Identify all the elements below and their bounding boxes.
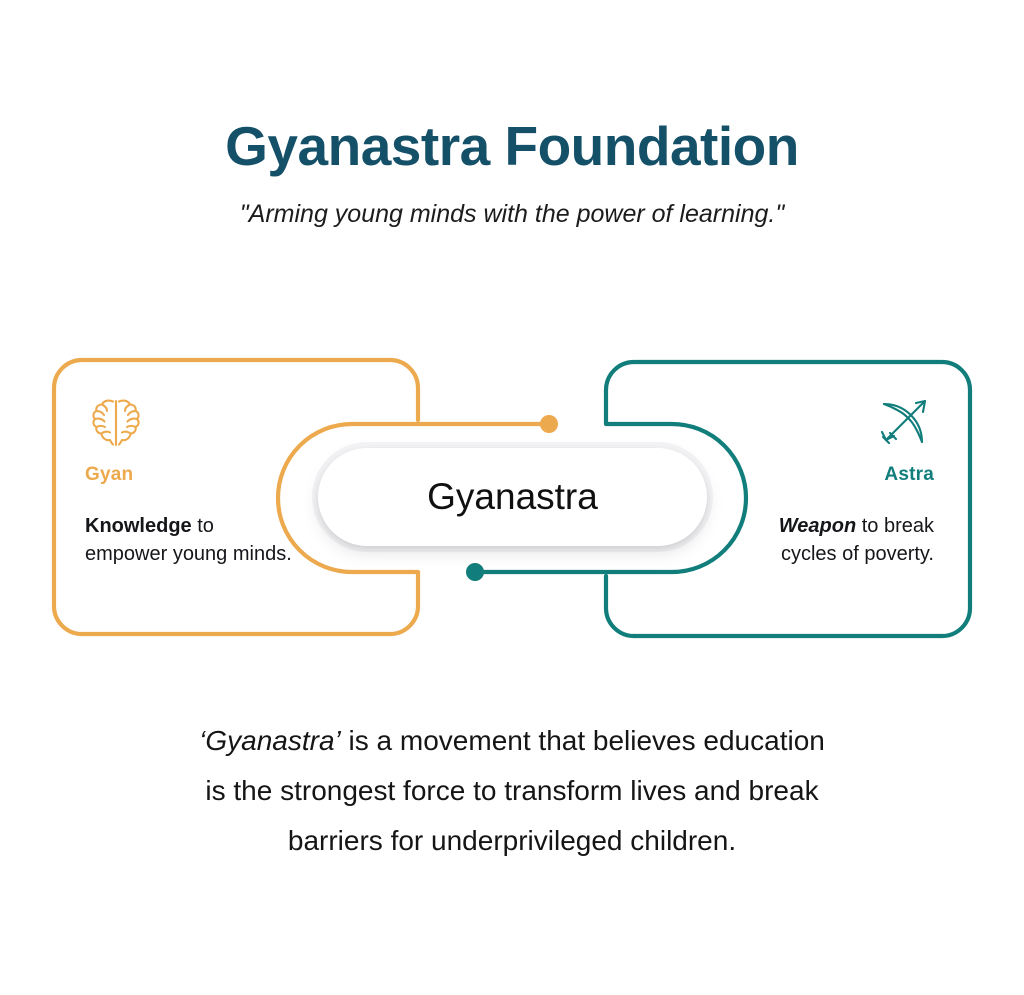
card-gyan-rest: to	[192, 515, 214, 537]
card-astra-line2: cycles of poverty.	[781, 543, 934, 565]
center-pill: Gyanastra	[318, 448, 707, 546]
astra-endpoint-dot	[466, 563, 484, 581]
card-astra-rest: to break	[856, 515, 934, 537]
gyan-card-corner-stub	[390, 360, 418, 420]
card-gyan-description: Knowledge to empower young minds.	[85, 512, 365, 569]
footer-line1: is a movement that believes education	[341, 725, 825, 756]
card-gyan-lead: Knowledge	[85, 515, 192, 537]
page-title: Gyanastra Foundation	[0, 118, 1024, 176]
card-gyan-line2: empower young minds.	[85, 543, 292, 565]
tagline: "Arming young minds with the power of le…	[0, 200, 1024, 229]
header: Gyanastra Foundation "Arming young minds…	[0, 118, 1024, 229]
footer-line3: barriers for underprivileged children.	[288, 825, 736, 856]
brain-icon	[85, 392, 365, 454]
footer-note: ‘Gyanastra’ is a movement that believes …	[0, 716, 1024, 865]
center-pill-label: Gyanastra	[427, 476, 598, 518]
concept-diagram: Gyan Knowledge to empower young minds.	[0, 348, 1024, 648]
footer-line2: is the strongest force to transform live…	[205, 775, 818, 806]
gyan-endpoint-dot	[540, 415, 558, 433]
infographic-canvas: Gyanastra Foundation "Arming young minds…	[0, 0, 1024, 995]
card-astra-lead: Weapon	[779, 515, 856, 537]
footer-emphasis: ‘Gyanastra’	[199, 725, 341, 756]
bow-and-arrow-icon	[654, 392, 934, 454]
astra-card-corner-stub	[606, 576, 634, 636]
